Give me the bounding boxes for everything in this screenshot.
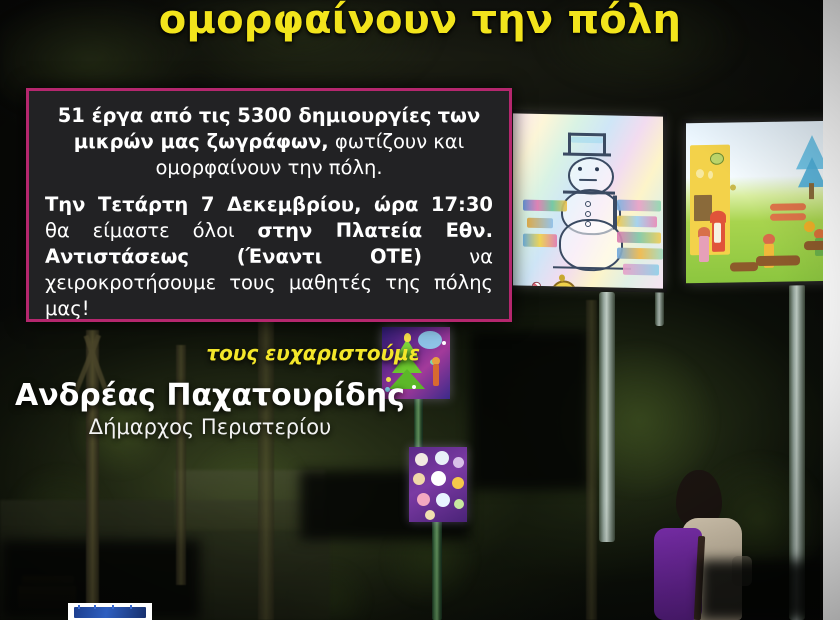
billboard-meadow-drawing [686,121,836,284]
poster-canvas: φωτίζουν και ομορφαίνουν την πόλη 51 έργ… [0,0,840,620]
logo-tick-4 [130,605,132,609]
shadow-mass-bottom-right [700,560,840,620]
announcement-paragraph-2: Την Τετάρτη 7 Δεκεμβρίου, ώρα 17:30 θα ε… [45,192,493,322]
announcement-box: 51 έργα από τις 5300 δημιουργίες των μικ… [26,88,512,322]
poster-headline: ομορφαίνουν την πόλη [0,0,840,43]
billboard-pole-left [599,292,615,542]
mayor-name: Ανδρέας Παχατουρίδης [0,378,420,413]
mayor-title: Δήμαρχος Περιστερίου [0,415,420,439]
logo-tick-1 [78,605,80,609]
artworks-line-1: 51 έργα από τις 5300 δημιουργίες [58,104,432,127]
logo-tick-2 [94,605,96,609]
announcement-paragraph-1: 51 έργα από τις 5300 δημιουργίες των μικ… [45,103,493,181]
logo-wordmark [74,607,146,618]
billboard-snowman-drawing [513,113,663,288]
thanks-text: τους ευχαριστούμε [0,341,420,365]
right-edge-white-strip [823,0,840,620]
announcement-box-inner: 51 έργα από τις 5300 δημιουργίες των μικ… [29,91,509,332]
shadow-mass-midright [470,330,590,490]
event-connector-1: θα είμαστε όλοι [45,219,257,242]
logo-tick-3 [112,605,114,609]
tree-trunk-right [586,300,597,620]
event-datetime: Την Τετάρτη 7 Δεκεμβρίου, ώρα 17:30 [45,193,493,216]
municipality-logo [68,603,152,620]
banner-ornaments [409,447,467,522]
